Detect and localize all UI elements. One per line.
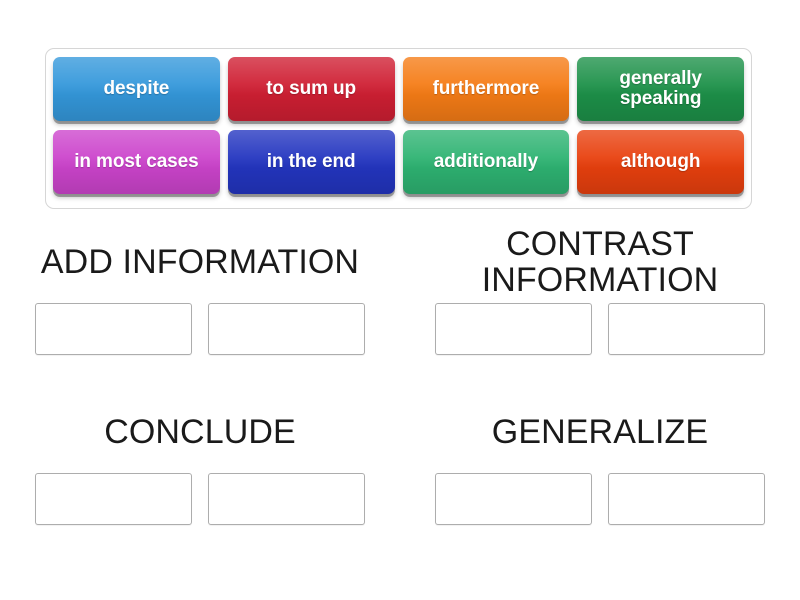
category-conclude: CONCLUDE	[0, 395, 400, 565]
category-contrast-information: CONTRAST INFORMATION	[400, 225, 800, 395]
category-title: CONCLUDE	[94, 395, 306, 469]
category-title: CONTRAST INFORMATION	[400, 225, 800, 299]
dropzone-add-information-1[interactable]	[35, 303, 192, 355]
word-tile-although[interactable]: although	[577, 130, 744, 194]
word-tile-label: generally speaking	[583, 69, 738, 109]
word-tile-label: additionally	[409, 152, 564, 172]
word-tile-despite[interactable]: despite	[53, 57, 220, 121]
word-tile-label: although	[583, 152, 738, 172]
word-tile-to-sum-up[interactable]: to sum up	[228, 57, 395, 121]
word-tile-label: to sum up	[234, 79, 389, 99]
dropzone-generalize-2[interactable]	[608, 473, 765, 525]
word-tiles-tray: despite to sum up furthermore generally …	[45, 48, 752, 209]
category-grid: ADD INFORMATION CONTRAST INFORMATION CON…	[0, 225, 800, 565]
dropzone-group	[35, 473, 365, 525]
dropzone-group	[35, 303, 365, 355]
word-tile-label: in most cases	[59, 152, 214, 172]
dropzone-conclude-2[interactable]	[208, 473, 365, 525]
word-tile-label: furthermore	[409, 79, 564, 99]
word-tile-additionally[interactable]: additionally	[403, 130, 570, 194]
word-tile-label: in the end	[234, 152, 389, 172]
dropzone-group	[435, 473, 765, 525]
word-tile-in-most-cases[interactable]: in most cases	[53, 130, 220, 194]
word-tile-label: despite	[59, 79, 214, 99]
dropzone-add-information-2[interactable]	[208, 303, 365, 355]
word-tile-in-the-end[interactable]: in the end	[228, 130, 395, 194]
dropzone-contrast-information-1[interactable]	[435, 303, 592, 355]
dropzone-generalize-1[interactable]	[435, 473, 592, 525]
group-sort-activity: despite to sum up furthermore generally …	[0, 0, 800, 600]
tile-row-2: in most cases in the end additionally al…	[53, 130, 744, 194]
category-title: ADD INFORMATION	[31, 225, 369, 299]
category-generalize: GENERALIZE	[400, 395, 800, 565]
dropzone-conclude-1[interactable]	[35, 473, 192, 525]
word-tile-furthermore[interactable]: furthermore	[403, 57, 570, 121]
category-add-information: ADD INFORMATION	[0, 225, 400, 395]
word-tile-generally-speaking[interactable]: generally speaking	[577, 57, 744, 121]
category-title: GENERALIZE	[482, 395, 718, 469]
tile-row-1: despite to sum up furthermore generally …	[53, 57, 744, 121]
dropzone-contrast-information-2[interactable]	[608, 303, 765, 355]
dropzone-group	[435, 303, 765, 355]
